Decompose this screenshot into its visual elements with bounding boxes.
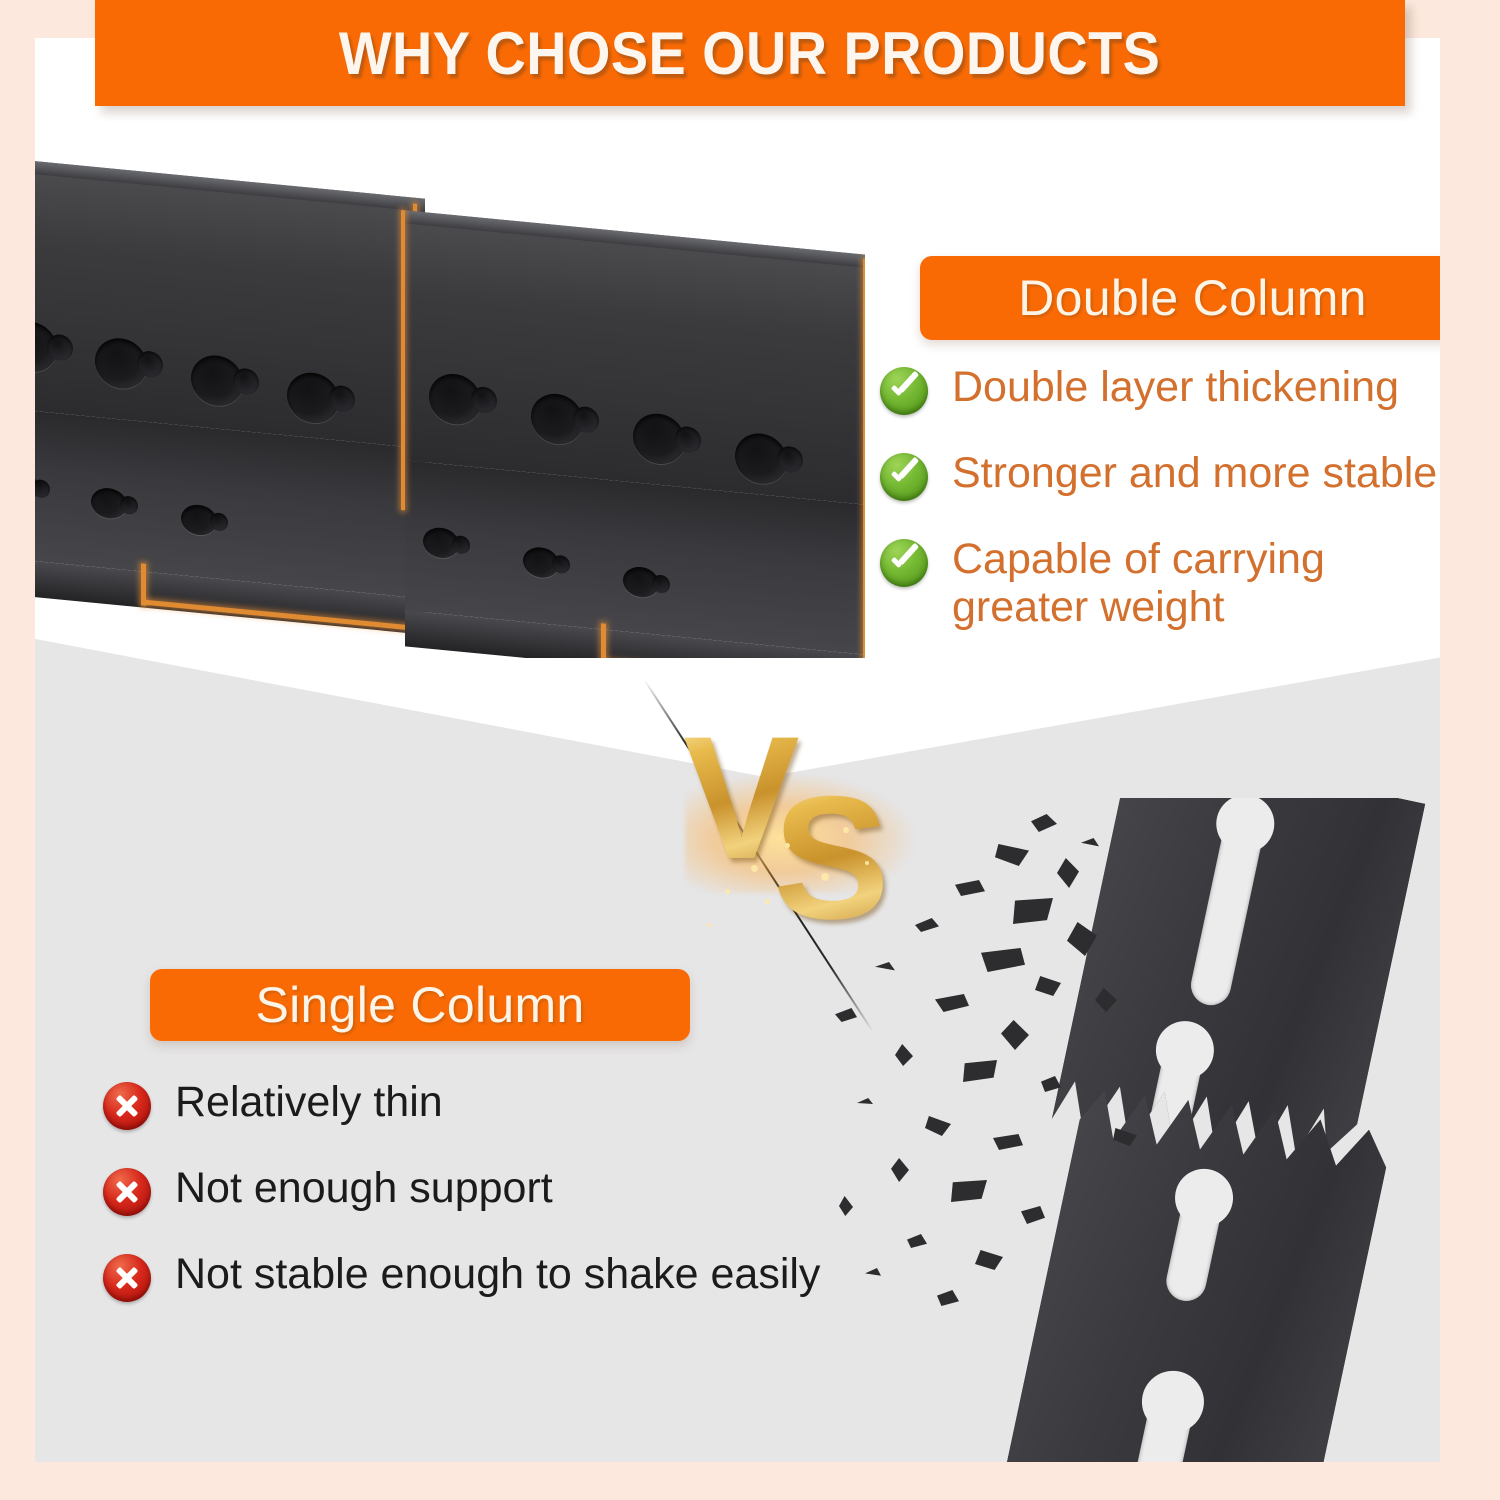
keyhole-slot xyxy=(429,372,481,427)
list-item: Relatively thin xyxy=(103,1078,903,1130)
beam-web xyxy=(405,210,865,505)
metal-shard xyxy=(993,1134,1023,1150)
metal-shard xyxy=(1013,898,1053,924)
steel-beam-rear xyxy=(35,157,425,658)
metal-shard xyxy=(895,1044,913,1066)
copper-edge-highlight xyxy=(863,258,865,658)
check-icon xyxy=(880,367,928,415)
header-banner: WHY CHOSE OUR PRODUCTS xyxy=(95,0,1405,106)
metal-shard xyxy=(937,1290,959,1306)
pros-item-label: Double layer thickening xyxy=(952,363,1399,411)
cross-icon xyxy=(103,1168,151,1216)
double-column-badge-label: Double Column xyxy=(1018,269,1367,327)
metal-shard xyxy=(1057,858,1079,888)
double-column-badge: Double Column xyxy=(920,256,1440,340)
metal-shard xyxy=(1001,1020,1029,1050)
keyhole-slot xyxy=(191,353,243,408)
keyhole-slot xyxy=(531,392,583,447)
sparkle-dot xyxy=(751,865,758,872)
keyhole-slot xyxy=(181,503,217,536)
beam-web xyxy=(35,157,425,448)
keyhole-slot xyxy=(423,526,459,559)
content-canvas: V S Double Column Double layer thickenin… xyxy=(35,38,1440,1462)
double-column-photo xyxy=(35,138,865,658)
list-item: Not enough support xyxy=(103,1164,903,1216)
metal-shard xyxy=(963,1060,997,1082)
single-column-badge-label: Single Column xyxy=(255,976,584,1034)
metal-shard xyxy=(995,844,1029,866)
sparkle-dot xyxy=(821,873,829,881)
steel-beam-front xyxy=(405,210,865,658)
keyhole-slot xyxy=(735,431,787,486)
metal-shard xyxy=(907,1234,927,1248)
sparkle-dot xyxy=(707,923,711,927)
cross-icon xyxy=(103,1254,151,1302)
cons-item-label: Not enough support xyxy=(175,1164,553,1212)
metal-shard xyxy=(835,1008,857,1022)
metal-shard xyxy=(1031,814,1057,832)
check-icon xyxy=(880,539,928,587)
cons-list: Relatively thin Not enough support Not s… xyxy=(103,1078,903,1302)
infographic-root: V S Double Column Double layer thickenin… xyxy=(0,0,1500,1500)
sparkle-dot xyxy=(765,899,770,904)
keyhole-slot xyxy=(633,411,685,466)
pros-item-label: Stronger and more stable xyxy=(952,449,1437,497)
versus-letter-s: S xyxy=(773,771,890,946)
metal-shard xyxy=(975,1250,1003,1270)
metal-shard xyxy=(925,1116,951,1136)
sparkle-dot xyxy=(865,861,869,865)
cons-item-label: Not stable enough to shake easily xyxy=(175,1250,820,1298)
keyhole-slot xyxy=(623,565,659,598)
keyhole-slot xyxy=(1163,1189,1225,1305)
metal-shard xyxy=(1035,976,1061,996)
metal-shard xyxy=(955,880,985,896)
keyhole-slot xyxy=(95,336,147,391)
keyhole-slot xyxy=(1122,1390,1196,1462)
sparkle-dot xyxy=(785,843,790,848)
check-icon xyxy=(880,453,928,501)
metal-shard xyxy=(981,948,1025,972)
sparkle-dot xyxy=(725,889,730,894)
keyhole-slot xyxy=(35,319,57,374)
keyhole-slot xyxy=(523,546,559,579)
keyhole-slot xyxy=(1187,815,1266,1009)
page-title: WHY CHOSE OUR PRODUCTS xyxy=(339,19,1160,88)
metal-shard xyxy=(1081,838,1099,850)
metal-shard xyxy=(951,1180,987,1202)
keyhole-slot xyxy=(91,487,127,520)
metal-shard xyxy=(875,962,895,974)
metal-shard xyxy=(1021,1206,1045,1224)
metal-shard xyxy=(935,994,969,1012)
keyhole-slot xyxy=(287,370,339,425)
copper-edge-highlight xyxy=(401,210,405,510)
list-item: Stronger and more stable xyxy=(880,449,1440,501)
cons-item-label: Relatively thin xyxy=(175,1078,443,1126)
keyhole-slot xyxy=(35,470,39,503)
pros-list: Double layer thickening Stronger and mor… xyxy=(880,363,1440,631)
list-item: Not stable enough to shake easily xyxy=(103,1250,903,1302)
versus-graphic: V S xyxy=(655,693,945,953)
single-column-badge: Single Column xyxy=(150,969,690,1041)
sparkle-dot xyxy=(843,827,849,833)
list-item: Capable of carrying greater weight xyxy=(880,535,1440,631)
copper-edge-highlight xyxy=(141,563,146,605)
cross-icon xyxy=(103,1082,151,1130)
pros-item-label: Capable of carrying greater weight xyxy=(952,535,1325,631)
list-item: Double layer thickening xyxy=(880,363,1440,415)
copper-edge-highlight xyxy=(601,623,606,658)
